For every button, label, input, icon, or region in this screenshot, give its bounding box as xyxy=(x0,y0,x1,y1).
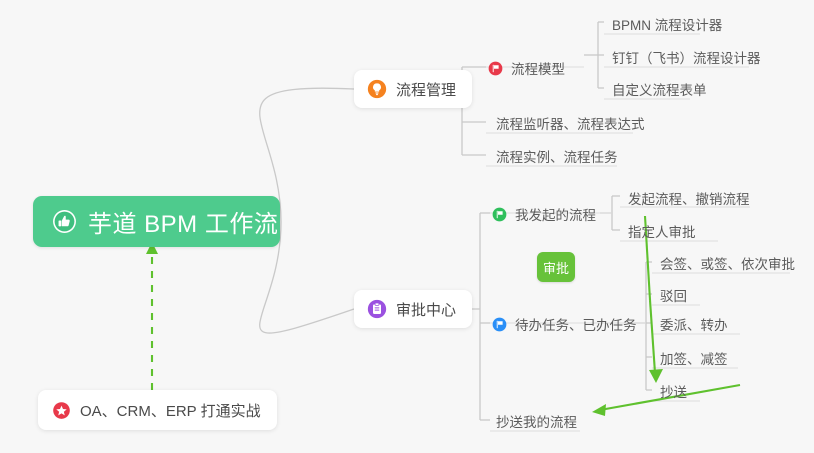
label-dingtalk-feishu-designer: 钉钉（飞书）流程设计器 xyxy=(612,47,761,67)
label-add-remove-sign: 加签、减签 xyxy=(660,348,728,368)
star-icon xyxy=(51,400,71,420)
thumbs-up-icon xyxy=(52,209,77,234)
label-delegate-transfer: 委派、转办 xyxy=(660,314,728,334)
label-process-instance-task: 流程实例、流程任务 xyxy=(496,146,618,166)
label-my-initiated-process: 我发起的流程 xyxy=(515,204,596,224)
node-cc[interactable]: 抄送 xyxy=(654,378,693,406)
label-cc-to-me-process: 抄送我的流程 xyxy=(496,411,577,431)
node-todo-done-tasks[interactable]: 待办任务、已办任务 xyxy=(490,311,643,339)
label-countersign-or-sequential: 会签、或签、依次审批 xyxy=(660,253,795,273)
node-cc-to-me-process[interactable]: 抄送我的流程 xyxy=(490,408,583,436)
node-bpmn-designer[interactable]: BPMN 流程设计器 xyxy=(606,11,728,39)
node-custom-process-form[interactable]: 自定义流程表单 xyxy=(606,76,713,104)
branch-label-approval-center: 审批中心 xyxy=(396,299,456,320)
label-todo-done-tasks: 待办任务、已办任务 xyxy=(515,314,637,334)
node-countersign-or-sequential[interactable]: 会签、或签、依次审批 xyxy=(654,250,801,278)
approval-tag[interactable]: 审批 xyxy=(537,252,575,282)
flag-red-icon xyxy=(488,61,503,76)
flag-blue-icon xyxy=(492,317,507,332)
node-process-instance-task[interactable]: 流程实例、流程任务 xyxy=(490,143,624,171)
root-node[interactable]: 芋道 BPM 工作流 xyxy=(33,196,280,247)
note-node-oa-crm-erp[interactable]: OA、CRM、ERP 打通实战 xyxy=(38,390,277,430)
node-delegate-transfer[interactable]: 委派、转办 xyxy=(654,311,734,339)
node-dingtalk-feishu-designer[interactable]: 钉钉（飞书）流程设计器 xyxy=(606,44,767,72)
node-my-initiated-process[interactable]: 我发起的流程 xyxy=(490,201,602,229)
branch-node-process-management[interactable]: 流程管理 xyxy=(354,70,472,108)
node-assignee-approval[interactable]: 指定人审批 xyxy=(622,218,702,246)
label-custom-process-form: 自定义流程表单 xyxy=(612,79,707,99)
node-reject[interactable]: 驳回 xyxy=(654,282,693,310)
arrowhead-cc-to-cc-to-me xyxy=(592,404,606,416)
lightbulb-icon xyxy=(367,79,387,99)
mindmap-canvas: 芋道 BPM 工作流 流程管理 审批中心 xyxy=(0,0,814,453)
note-label-oa-crm-erp: OA、CRM、ERP 打通实战 xyxy=(80,400,261,421)
label-start-cancel-process: 发起流程、撤销流程 xyxy=(628,188,750,208)
label-bpmn-designer: BPMN 流程设计器 xyxy=(612,14,722,34)
branch-label-process-management: 流程管理 xyxy=(396,79,456,100)
node-add-remove-sign[interactable]: 加签、减签 xyxy=(654,345,734,373)
node-process-model[interactable]: 流程模型 xyxy=(486,55,571,83)
root-label: 芋道 BPM 工作流 xyxy=(88,204,278,239)
approval-tag-label: 审批 xyxy=(543,258,569,277)
clipboard-icon xyxy=(367,299,387,319)
label-cc: 抄送 xyxy=(660,381,687,401)
label-assignee-approval: 指定人审批 xyxy=(628,221,696,241)
label-process-model: 流程模型 xyxy=(511,58,565,78)
node-process-listener-expression[interactable]: 流程监听器、流程表达式 xyxy=(490,110,651,138)
label-process-listener-expression: 流程监听器、流程表达式 xyxy=(496,113,645,133)
node-start-cancel-process[interactable]: 发起流程、撤销流程 xyxy=(622,185,756,213)
branch-node-approval-center[interactable]: 审批中心 xyxy=(354,290,472,328)
flag-green-icon xyxy=(492,207,507,222)
label-reject: 驳回 xyxy=(660,285,687,305)
